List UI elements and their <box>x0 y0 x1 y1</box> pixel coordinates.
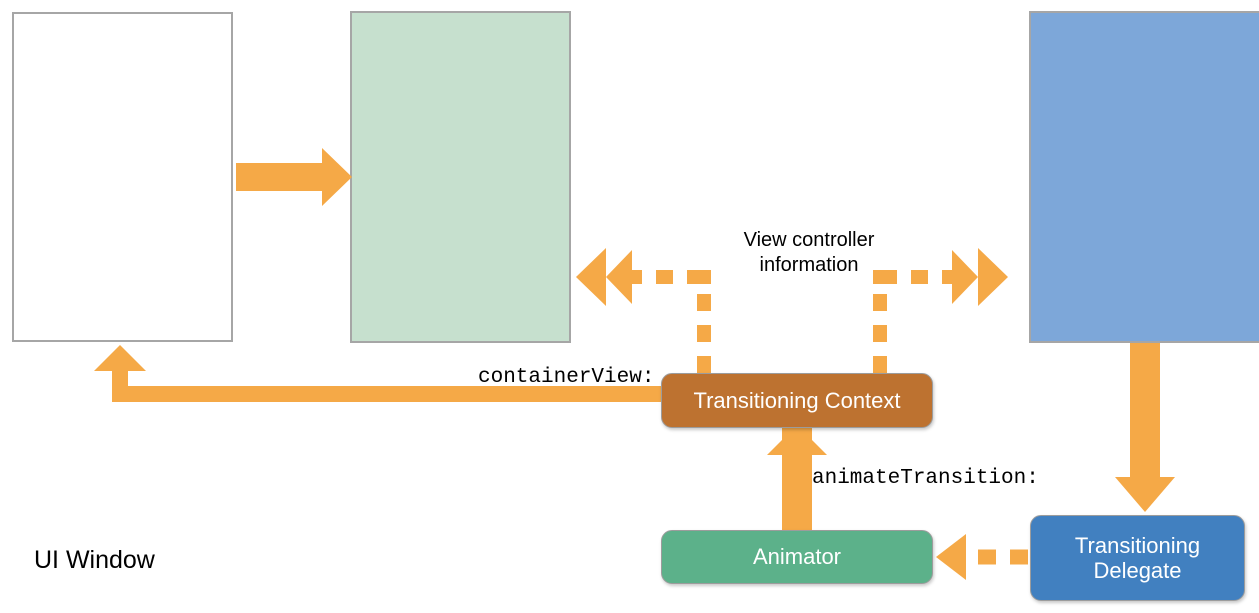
node-animator[interactable]: Animator <box>661 530 933 584</box>
arrow-context-to-destination <box>576 248 711 373</box>
ui-window-label: UI Window <box>34 546 155 575</box>
node-transitioning-delegate[interactable]: Transitioning Delegate <box>1030 515 1245 601</box>
vc-info-line1: View controller <box>744 229 875 251</box>
arrow-delegate-to-animator <box>936 534 1028 580</box>
presented-view-rect <box>1029 11 1259 343</box>
view-controller-information-label: View controller information <box>724 228 894 278</box>
animator-label: Animator <box>753 544 841 569</box>
source-view-rect <box>12 12 233 342</box>
transitioning-delegate-label-line2: Delegate <box>1093 558 1181 583</box>
diagram-canvas: Transitioning Context Animator Transitio… <box>0 0 1259 613</box>
transitioning-delegate-label-line1: Transitioning <box>1075 533 1200 558</box>
node-transitioning-context[interactable]: Transitioning Context <box>661 373 933 428</box>
vc-info-line2: information <box>760 254 859 276</box>
animate-transition-label: animateTransition: <box>812 467 1039 490</box>
arrow-source-to-destination <box>236 148 352 206</box>
transitioning-context-label: Transitioning Context <box>693 388 900 413</box>
destination-view-rect <box>350 11 571 343</box>
transitioning-delegate-label: Transitioning Delegate <box>1075 533 1200 584</box>
arrow-presented-to-delegate <box>1115 343 1175 512</box>
container-view-label: containerView: <box>478 366 654 389</box>
